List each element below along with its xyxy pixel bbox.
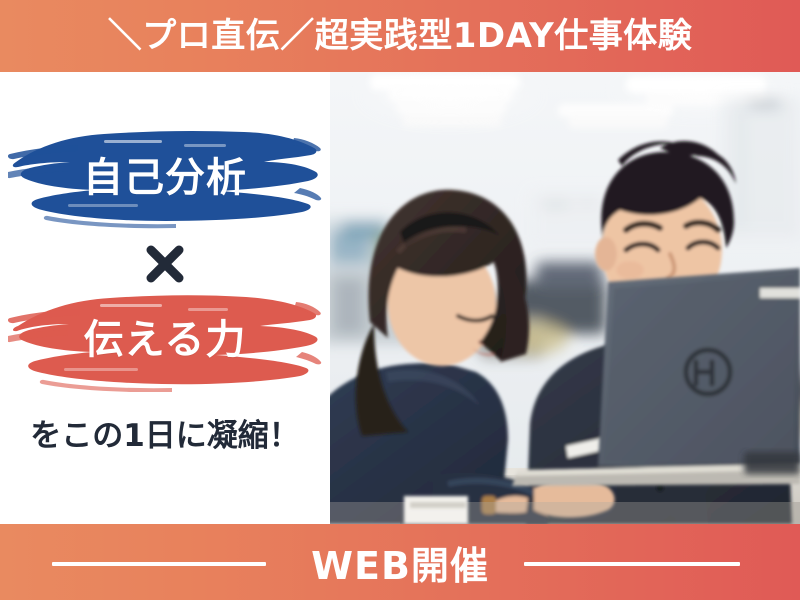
- brush-red-label: 伝える力: [8, 280, 322, 392]
- brush-blue-label: 自己分析: [8, 118, 322, 230]
- divider-line-left: [52, 562, 266, 566]
- left-content-panel: 自己分析: [0, 72, 330, 524]
- tagline-text: をこの1日に凝縮！: [0, 410, 330, 455]
- divider-line-right: [524, 562, 740, 566]
- poster-canvas: ＼プロ直伝／超実践型1DAY仕事体験: [0, 0, 800, 600]
- office-photo: [330, 72, 800, 524]
- top-banner-title: ＼プロ直伝／超実践型1DAY仕事体験: [108, 19, 693, 53]
- top-banner: ＼プロ直伝／超実践型1DAY仕事体験: [0, 0, 800, 72]
